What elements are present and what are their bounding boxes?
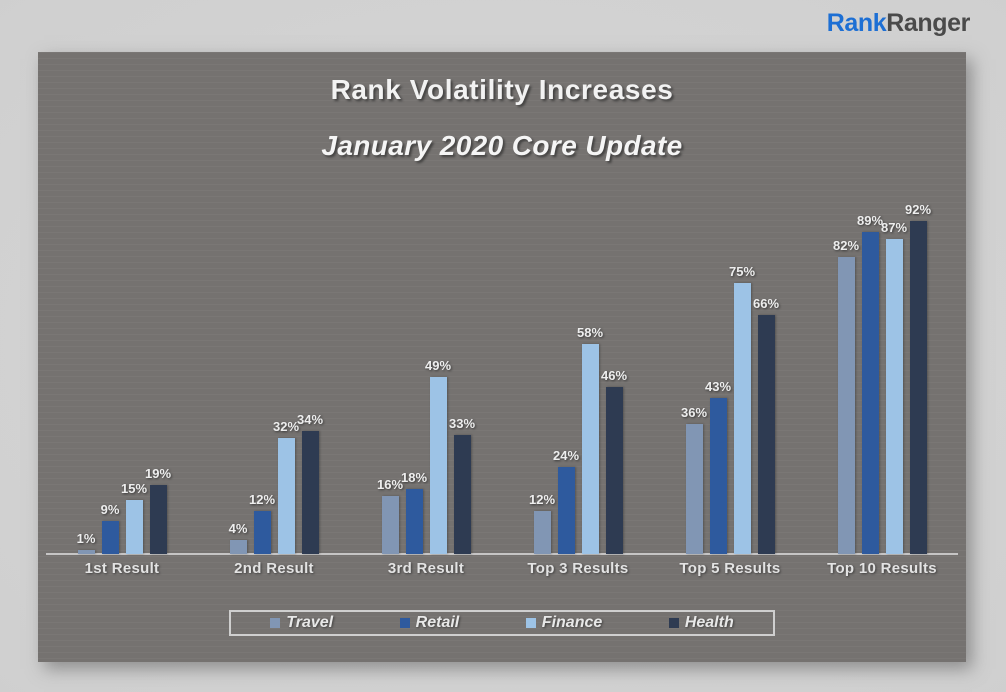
bar-health[interactable]	[454, 435, 471, 554]
bar-value-label: 43%	[705, 379, 731, 394]
bar-health[interactable]	[150, 485, 167, 554]
bar-value-label: 34%	[297, 412, 323, 427]
bar-value-label: 46%	[601, 368, 627, 383]
bar-column[interactable]: 32%	[278, 192, 295, 554]
bar-group: 16%18%49%33%	[382, 192, 471, 554]
bar-retail[interactable]	[862, 232, 879, 554]
bar-value-label: 66%	[753, 296, 779, 311]
legend-label: Retail	[416, 614, 460, 632]
legend-item-retail[interactable]: Retail	[400, 614, 460, 632]
bar-value-label: 36%	[681, 405, 707, 420]
bar-column[interactable]: 24%	[558, 192, 575, 554]
bar-column[interactable]: 75%	[734, 192, 751, 554]
x-axis-baseline	[46, 553, 958, 555]
bar-value-label: 19%	[145, 466, 171, 481]
bar-column[interactable]: 12%	[534, 192, 551, 554]
bar-finance[interactable]	[278, 438, 295, 554]
bar-column[interactable]: 87%	[886, 192, 903, 554]
bar-column[interactable]: 18%	[406, 192, 423, 554]
chart-subtitle: January 2020 Core Update	[38, 130, 966, 162]
bar-group: 1%9%15%19%	[78, 192, 167, 554]
bar-column[interactable]: 4%	[230, 192, 247, 554]
bar-column[interactable]: 34%	[302, 192, 319, 554]
legend-swatch-icon	[526, 618, 536, 628]
bar-retail[interactable]	[406, 489, 423, 554]
bar-finance[interactable]	[430, 377, 447, 554]
category-label: 2nd Result	[234, 560, 314, 577]
bar-column[interactable]: 1%	[78, 192, 95, 554]
legend-swatch-icon	[400, 618, 410, 628]
x-axis-labels: 1st Result2nd Result3rd ResultTop 3 Resu…	[46, 560, 958, 590]
bar-health[interactable]	[302, 431, 319, 554]
bar-retail[interactable]	[558, 467, 575, 554]
category-label: 3rd Result	[388, 560, 464, 577]
bar-value-label: 32%	[273, 419, 299, 434]
bar-group: 4%12%32%34%	[230, 192, 319, 554]
legend-label: Finance	[542, 614, 602, 632]
bar-travel[interactable]	[838, 257, 855, 554]
bar-retail[interactable]	[710, 398, 727, 554]
bar-finance[interactable]	[126, 500, 143, 554]
bar-travel[interactable]	[686, 424, 703, 554]
bar-health[interactable]	[758, 315, 775, 554]
bar-column[interactable]: 43%	[710, 192, 727, 554]
legend-label: Travel	[286, 614, 333, 632]
bar-group: 12%24%58%46%	[534, 192, 623, 554]
bar-column[interactable]: 33%	[454, 192, 471, 554]
bar-column[interactable]: 15%	[126, 192, 143, 554]
bar-travel[interactable]	[534, 511, 551, 554]
chart-legend: TravelRetailFinanceHealth	[229, 610, 775, 636]
bar-column[interactable]: 36%	[686, 192, 703, 554]
legend-label: Health	[685, 614, 734, 632]
chart-panel: Rank Volatility Increases January 2020 C…	[38, 52, 966, 662]
bar-value-label: 9%	[101, 502, 120, 517]
bar-value-label: 75%	[729, 264, 755, 279]
bar-finance[interactable]	[886, 239, 903, 554]
bar-travel[interactable]	[382, 496, 399, 554]
bar-value-label: 33%	[449, 416, 475, 431]
bar-travel[interactable]	[78, 550, 95, 554]
bar-value-label: 4%	[229, 521, 248, 536]
chart-title: Rank Volatility Increases	[38, 74, 966, 106]
bar-group: 36%43%75%66%	[686, 192, 775, 554]
bar-value-label: 58%	[577, 325, 603, 340]
bar-retail[interactable]	[254, 511, 271, 554]
category-label: Top 10 Results	[827, 560, 937, 577]
logo-text-ranger: Ranger	[886, 9, 970, 37]
bar-value-label: 82%	[833, 238, 859, 253]
bar-column[interactable]: 12%	[254, 192, 271, 554]
bar-value-label: 12%	[249, 492, 275, 507]
bar-retail[interactable]	[102, 521, 119, 554]
category-label: Top 5 Results	[679, 560, 780, 577]
bar-value-label: 1%	[77, 531, 96, 546]
bar-value-label: 15%	[121, 481, 147, 496]
bar-column[interactable]: 9%	[102, 192, 119, 554]
legend-item-travel[interactable]: Travel	[270, 614, 333, 632]
bar-health[interactable]	[606, 387, 623, 554]
bar-value-label: 24%	[553, 448, 579, 463]
bar-group: 82%89%87%92%	[838, 192, 927, 554]
bar-value-label: 16%	[377, 477, 403, 492]
legend-swatch-icon	[669, 618, 679, 628]
bar-finance[interactable]	[734, 283, 751, 555]
plot-area: 1%9%15%19%4%12%32%34%16%18%49%33%12%24%5…	[46, 192, 958, 554]
bar-column[interactable]: 49%	[430, 192, 447, 554]
legend-swatch-icon	[270, 618, 280, 628]
chart-title-block: Rank Volatility Increases January 2020 C…	[38, 74, 966, 162]
bar-column[interactable]: 92%	[910, 192, 927, 554]
bar-column[interactable]: 89%	[862, 192, 879, 554]
bar-value-label: 89%	[857, 213, 883, 228]
bar-column[interactable]: 58%	[582, 192, 599, 554]
bar-column[interactable]: 19%	[150, 192, 167, 554]
category-label: 1st Result	[85, 560, 160, 577]
bar-value-label: 18%	[401, 470, 427, 485]
bar-value-label: 12%	[529, 492, 555, 507]
logo-text-rank: Rank	[827, 9, 887, 37]
legend-item-health[interactable]: Health	[669, 614, 734, 632]
bar-value-label: 49%	[425, 358, 451, 373]
bar-travel[interactable]	[230, 540, 247, 554]
bar-column[interactable]: 16%	[382, 192, 399, 554]
rankranger-logo: RankRanger	[827, 8, 970, 38]
bar-value-label: 92%	[905, 202, 931, 217]
bar-finance[interactable]	[582, 344, 599, 554]
category-label: Top 3 Results	[527, 560, 628, 577]
bar-health[interactable]	[910, 221, 927, 554]
bar-column[interactable]: 46%	[606, 192, 623, 554]
bar-value-label: 87%	[881, 220, 907, 235]
legend-item-finance[interactable]: Finance	[526, 614, 602, 632]
bar-column[interactable]: 82%	[838, 192, 855, 554]
bar-column[interactable]: 66%	[758, 192, 775, 554]
